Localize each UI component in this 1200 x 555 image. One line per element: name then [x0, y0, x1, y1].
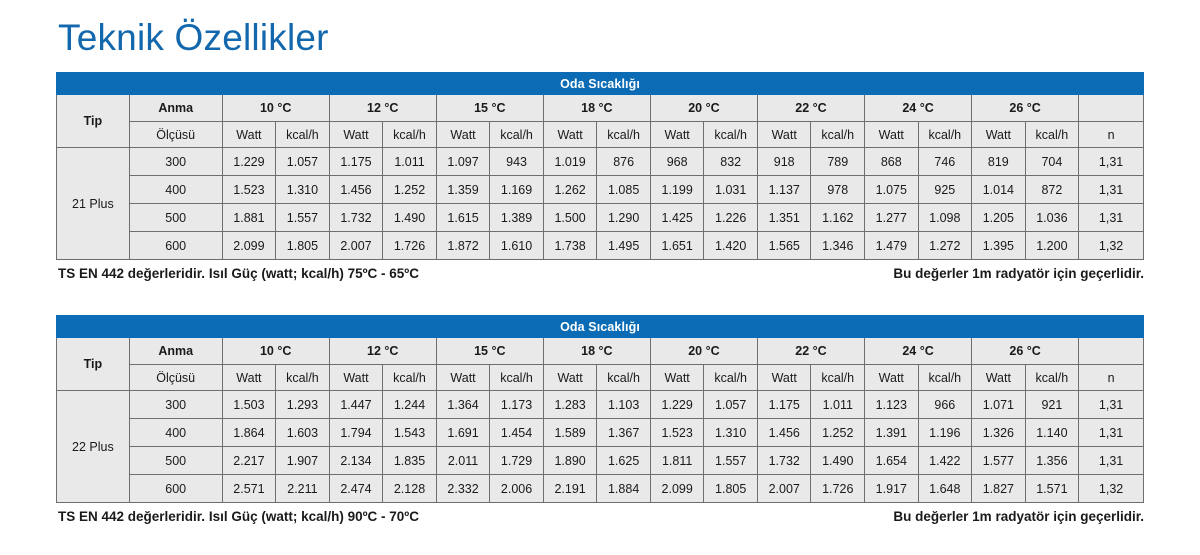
output-value-cell: 1.794 — [329, 419, 383, 447]
column-header-temperature: 12 °C — [329, 95, 436, 122]
output-value-cell: 1.835 — [383, 447, 437, 475]
column-header-unit: kcal/h — [1025, 365, 1079, 391]
output-value-cell: 872 — [1025, 176, 1079, 204]
output-value-cell: 1.557 — [704, 447, 758, 475]
room-temperature-banner: Oda Sıcaklığı — [57, 316, 1144, 338]
output-value-cell: 1.651 — [650, 232, 704, 260]
output-value-cell: 2.332 — [436, 475, 490, 503]
output-value-cell: 921 — [1025, 391, 1079, 419]
output-value-cell: 1.420 — [704, 232, 758, 260]
output-value-cell: 1.625 — [597, 447, 651, 475]
output-value-cell: 2.134 — [329, 447, 383, 475]
output-value-cell: 1.490 — [811, 447, 865, 475]
radiator-type-cell: 22 Plus — [57, 391, 130, 503]
column-header-n-spacer — [1079, 338, 1144, 365]
output-value-cell: 1.610 — [490, 232, 544, 260]
output-value-cell: 832 — [704, 148, 758, 176]
table-row: 4001.5231.3101.4561.2521.3591.1691.2621.… — [57, 176, 1144, 204]
column-header-anma: Anma — [129, 95, 222, 122]
spec-sheet-page: Teknik Özellikler Oda SıcaklığıTipAnma10… — [0, 0, 1200, 555]
table-banner-row: Oda Sıcaklığı — [57, 316, 1144, 338]
column-header-temperature: 22 °C — [757, 338, 864, 365]
output-value-cell: 1.103 — [597, 391, 651, 419]
output-value-cell: 1.805 — [276, 232, 330, 260]
table-row: 6002.0991.8052.0071.7261.8721.6101.7381.… — [57, 232, 1144, 260]
output-value-cell: 1.864 — [222, 419, 276, 447]
column-header-temperature: 15 °C — [436, 338, 543, 365]
nominal-size-cell: 500 — [129, 204, 222, 232]
output-value-cell: 1.346 — [811, 232, 865, 260]
output-value-cell: 1.262 — [543, 176, 597, 204]
column-header-unit: Watt — [650, 122, 704, 148]
column-header-unit: kcal/h — [704, 122, 758, 148]
output-value-cell: 1.391 — [865, 419, 919, 447]
output-value-cell: 1.367 — [597, 419, 651, 447]
output-value-cell: 1.277 — [865, 204, 919, 232]
column-header-temperature: 24 °C — [865, 95, 972, 122]
table-banner-row: Oda Sıcaklığı — [57, 73, 1144, 95]
column-header-unit: Watt — [972, 365, 1026, 391]
output-value-cell: 1.615 — [436, 204, 490, 232]
output-value-cell: 1.173 — [490, 391, 544, 419]
column-header-unit: Watt — [543, 365, 597, 391]
table-header-unit-row: ÖlçüsüWattkcal/hWattkcal/hWattkcal/hWatt… — [57, 365, 1144, 391]
output-value-cell: 1.603 — [276, 419, 330, 447]
output-value-cell: 2.474 — [329, 475, 383, 503]
table-notes-21-plus: TS EN 442 değerleridir. Isıl Güç (watt; … — [58, 266, 1144, 281]
column-header-unit: kcal/h — [276, 365, 330, 391]
output-value-cell: 1.359 — [436, 176, 490, 204]
output-value-cell: 789 — [811, 148, 865, 176]
note-left: TS EN 442 değerleridir. Isıl Güç (watt; … — [58, 266, 419, 281]
column-header-unit: kcal/h — [490, 122, 544, 148]
column-header-unit: Watt — [865, 365, 919, 391]
exponent-n-cell: 1,32 — [1079, 232, 1144, 260]
output-value-cell: 1.565 — [757, 232, 811, 260]
output-value-cell: 1.654 — [865, 447, 919, 475]
output-value-cell: 1.226 — [704, 204, 758, 232]
output-value-cell: 1.310 — [276, 176, 330, 204]
output-value-cell: 1.290 — [597, 204, 651, 232]
output-value-cell: 1.071 — [972, 391, 1026, 419]
column-header-unit: kcal/h — [811, 122, 865, 148]
output-value-cell: 876 — [597, 148, 651, 176]
column-header-temperature: 20 °C — [650, 95, 757, 122]
output-value-cell: 1.395 — [972, 232, 1026, 260]
column-header-olcusu: Ölçüsü — [129, 365, 222, 391]
column-header-unit: kcal/h — [918, 122, 972, 148]
output-value-cell: 1.425 — [650, 204, 704, 232]
output-value-cell: 1.577 — [972, 447, 1026, 475]
output-value-cell: 2.571 — [222, 475, 276, 503]
nominal-size-cell: 300 — [129, 148, 222, 176]
output-value-cell: 1.827 — [972, 475, 1026, 503]
output-value-cell: 1.447 — [329, 391, 383, 419]
output-value-cell: 1.490 — [383, 204, 437, 232]
output-value-cell: 1.252 — [811, 419, 865, 447]
column-header-temperature: 20 °C — [650, 338, 757, 365]
output-value-cell: 1.691 — [436, 419, 490, 447]
column-header-tip: Tip — [57, 95, 130, 148]
output-value-cell: 1.140 — [1025, 419, 1079, 447]
output-value-cell: 2.007 — [757, 475, 811, 503]
output-value-cell: 2.217 — [222, 447, 276, 475]
output-value-cell: 1.454 — [490, 419, 544, 447]
output-value-cell: 1.011 — [811, 391, 865, 419]
output-value-cell: 1.075 — [865, 176, 919, 204]
note-right: Bu değerler 1m radyatör için geçerlidir. — [893, 509, 1144, 524]
column-header-unit: kcal/h — [1025, 122, 1079, 148]
table-body-2: Oda SıcaklığıTipAnma10 °C12 °C15 °C18 °C… — [57, 316, 1144, 503]
output-value-cell: 1.881 — [222, 204, 276, 232]
output-value-cell: 1.805 — [704, 475, 758, 503]
column-header-unit: Watt — [436, 122, 490, 148]
exponent-n-cell: 1,31 — [1079, 447, 1144, 475]
column-header-temperature: 22 °C — [757, 95, 864, 122]
output-value-cell: 2.011 — [436, 447, 490, 475]
output-value-cell: 1.356 — [1025, 447, 1079, 475]
output-value-cell: 1.162 — [811, 204, 865, 232]
column-header-temperature: 18 °C — [543, 95, 650, 122]
column-header-tip: Tip — [57, 338, 130, 391]
output-value-cell: 1.589 — [543, 419, 597, 447]
column-header-unit: kcal/h — [704, 365, 758, 391]
output-value-cell: 1.479 — [865, 232, 919, 260]
output-value-cell: 1.098 — [918, 204, 972, 232]
table-row: 21 Plus3001.2291.0571.1751.0111.0979431.… — [57, 148, 1144, 176]
column-header-unit: Watt — [329, 365, 383, 391]
output-value-cell: 1.422 — [918, 447, 972, 475]
output-value-cell: 1.571 — [1025, 475, 1079, 503]
nominal-size-cell: 400 — [129, 176, 222, 204]
output-value-cell: 1.351 — [757, 204, 811, 232]
column-header-unit: Watt — [865, 122, 919, 148]
output-value-cell: 1.811 — [650, 447, 704, 475]
output-value-cell: 968 — [650, 148, 704, 176]
output-value-cell: 1.283 — [543, 391, 597, 419]
output-value-cell: 819 — [972, 148, 1026, 176]
output-value-cell: 1.031 — [704, 176, 758, 204]
spec-table: Oda SıcaklığıTipAnma10 °C12 °C15 °C18 °C… — [56, 315, 1144, 503]
output-value-cell: 1.732 — [757, 447, 811, 475]
column-header-n: n — [1079, 365, 1144, 391]
note-left: TS EN 442 değerleridir. Isıl Güç (watt; … — [58, 509, 419, 524]
output-value-cell: 1.199 — [650, 176, 704, 204]
output-value-cell: 1.057 — [276, 148, 330, 176]
room-temperature-banner: Oda Sıcaklığı — [57, 73, 1144, 95]
table-row: 4001.8641.6031.7941.5431.6911.4541.5891.… — [57, 419, 1144, 447]
output-value-cell: 1.907 — [276, 447, 330, 475]
output-value-cell: 1.175 — [329, 148, 383, 176]
output-value-cell: 2.211 — [276, 475, 330, 503]
output-value-cell: 1.495 — [597, 232, 651, 260]
output-value-cell: 978 — [811, 176, 865, 204]
column-header-temperature: 12 °C — [329, 338, 436, 365]
output-value-cell: 1.326 — [972, 419, 1026, 447]
output-value-cell: 1.523 — [650, 419, 704, 447]
exponent-n-cell: 1,31 — [1079, 419, 1144, 447]
output-value-cell: 1.738 — [543, 232, 597, 260]
output-value-cell: 1.169 — [490, 176, 544, 204]
column-header-unit: Watt — [757, 365, 811, 391]
nominal-size-cell: 400 — [129, 419, 222, 447]
output-value-cell: 1.011 — [383, 148, 437, 176]
output-value-cell: 966 — [918, 391, 972, 419]
output-value-cell: 1.389 — [490, 204, 544, 232]
table-body-1: Oda SıcaklığıTipAnma10 °C12 °C15 °C18 °C… — [57, 73, 1144, 260]
output-value-cell: 2.128 — [383, 475, 437, 503]
output-value-cell: 1.057 — [704, 391, 758, 419]
column-header-temperature: 24 °C — [865, 338, 972, 365]
note-right: Bu değerler 1m radyatör için geçerlidir. — [893, 266, 1144, 281]
output-value-cell: 2.099 — [222, 232, 276, 260]
table-row: 6002.5712.2112.4742.1282.3322.0062.1911.… — [57, 475, 1144, 503]
output-value-cell: 918 — [757, 148, 811, 176]
column-header-unit: kcal/h — [383, 365, 437, 391]
output-value-cell: 868 — [865, 148, 919, 176]
output-value-cell: 1.196 — [918, 419, 972, 447]
table-notes-22-plus: TS EN 442 değerleridir. Isıl Güç (watt; … — [58, 509, 1144, 524]
output-value-cell: 2.006 — [490, 475, 544, 503]
output-value-cell: 746 — [918, 148, 972, 176]
spec-table: Oda SıcaklığıTipAnma10 °C12 °C15 °C18 °C… — [56, 72, 1144, 260]
output-value-cell: 1.872 — [436, 232, 490, 260]
output-value-cell: 1.917 — [865, 475, 919, 503]
output-value-cell: 1.729 — [490, 447, 544, 475]
nominal-size-cell: 500 — [129, 447, 222, 475]
output-value-cell: 1.456 — [757, 419, 811, 447]
column-header-unit: Watt — [543, 122, 597, 148]
column-header-temperature: 26 °C — [972, 338, 1079, 365]
column-header-olcusu: Ölçüsü — [129, 122, 222, 148]
output-value-cell: 1.726 — [811, 475, 865, 503]
column-header-temperature: 26 °C — [972, 95, 1079, 122]
exponent-n-cell: 1,31 — [1079, 391, 1144, 419]
column-header-unit: Watt — [222, 122, 276, 148]
output-value-cell: 1.205 — [972, 204, 1026, 232]
column-header-unit: Watt — [329, 122, 383, 148]
output-value-cell: 1.200 — [1025, 232, 1079, 260]
output-value-cell: 1.726 — [383, 232, 437, 260]
column-header-n: n — [1079, 122, 1144, 148]
output-value-cell: 1.252 — [383, 176, 437, 204]
column-header-unit: Watt — [972, 122, 1026, 148]
spec-table-block-22-plus: Oda SıcaklığıTipAnma10 °C12 °C15 °C18 °C… — [56, 315, 1144, 503]
column-header-unit: kcal/h — [918, 365, 972, 391]
nominal-size-cell: 600 — [129, 475, 222, 503]
output-value-cell: 1.500 — [543, 204, 597, 232]
output-value-cell: 1.293 — [276, 391, 330, 419]
nominal-size-cell: 300 — [129, 391, 222, 419]
table-row: 5001.8811.5571.7321.4901.6151.3891.5001.… — [57, 204, 1144, 232]
table-header-unit-row: ÖlçüsüWattkcal/hWattkcal/hWattkcal/hWatt… — [57, 122, 1144, 148]
table-row: 22 Plus3001.5031.2931.4471.2441.3641.173… — [57, 391, 1144, 419]
output-value-cell: 1.732 — [329, 204, 383, 232]
output-value-cell: 1.137 — [757, 176, 811, 204]
column-header-temperature: 10 °C — [222, 95, 329, 122]
exponent-n-cell: 1,31 — [1079, 176, 1144, 204]
output-value-cell: 1.014 — [972, 176, 1026, 204]
column-header-unit: Watt — [436, 365, 490, 391]
column-header-unit: kcal/h — [597, 365, 651, 391]
column-header-unit: kcal/h — [811, 365, 865, 391]
output-value-cell: 2.007 — [329, 232, 383, 260]
output-value-cell: 1.364 — [436, 391, 490, 419]
output-value-cell: 1.648 — [918, 475, 972, 503]
page-title: Teknik Özellikler — [58, 16, 329, 60]
table-row: 5002.2171.9072.1341.8352.0111.7291.8901.… — [57, 447, 1144, 475]
spec-table-block-21-plus: Oda SıcaklığıTipAnma10 °C12 °C15 °C18 °C… — [56, 72, 1144, 260]
nominal-size-cell: 600 — [129, 232, 222, 260]
output-value-cell: 704 — [1025, 148, 1079, 176]
column-header-temperature: 15 °C — [436, 95, 543, 122]
table-header-temperature-row: TipAnma10 °C12 °C15 °C18 °C20 °C22 °C24 … — [57, 338, 1144, 365]
output-value-cell: 1.503 — [222, 391, 276, 419]
column-header-unit: kcal/h — [597, 122, 651, 148]
output-value-cell: 943 — [490, 148, 544, 176]
output-value-cell: 1.523 — [222, 176, 276, 204]
output-value-cell: 1.123 — [865, 391, 919, 419]
output-value-cell: 1.456 — [329, 176, 383, 204]
table-header-temperature-row: TipAnma10 °C12 °C15 °C18 °C20 °C22 °C24 … — [57, 95, 1144, 122]
output-value-cell: 1.272 — [918, 232, 972, 260]
column-header-temperature: 18 °C — [543, 338, 650, 365]
output-value-cell: 1.175 — [757, 391, 811, 419]
column-header-temperature: 10 °C — [222, 338, 329, 365]
column-header-unit: kcal/h — [490, 365, 544, 391]
output-value-cell: 1.097 — [436, 148, 490, 176]
output-value-cell: 1.019 — [543, 148, 597, 176]
column-header-unit: Watt — [222, 365, 276, 391]
column-header-n-spacer — [1079, 95, 1144, 122]
output-value-cell: 1.085 — [597, 176, 651, 204]
output-value-cell: 1.557 — [276, 204, 330, 232]
output-value-cell: 1.229 — [222, 148, 276, 176]
output-value-cell: 2.099 — [650, 475, 704, 503]
exponent-n-cell: 1,32 — [1079, 475, 1144, 503]
exponent-n-cell: 1,31 — [1079, 148, 1144, 176]
output-value-cell: 1.229 — [650, 391, 704, 419]
output-value-cell: 1.884 — [597, 475, 651, 503]
column-header-unit: Watt — [650, 365, 704, 391]
output-value-cell: 1.890 — [543, 447, 597, 475]
output-value-cell: 1.310 — [704, 419, 758, 447]
exponent-n-cell: 1,31 — [1079, 204, 1144, 232]
output-value-cell: 1.036 — [1025, 204, 1079, 232]
column-header-unit: kcal/h — [383, 122, 437, 148]
output-value-cell: 925 — [918, 176, 972, 204]
column-header-unit: Watt — [757, 122, 811, 148]
column-header-unit: kcal/h — [276, 122, 330, 148]
radiator-type-cell: 21 Plus — [57, 148, 130, 260]
output-value-cell: 2.191 — [543, 475, 597, 503]
output-value-cell: 1.543 — [383, 419, 437, 447]
column-header-anma: Anma — [129, 338, 222, 365]
output-value-cell: 1.244 — [383, 391, 437, 419]
